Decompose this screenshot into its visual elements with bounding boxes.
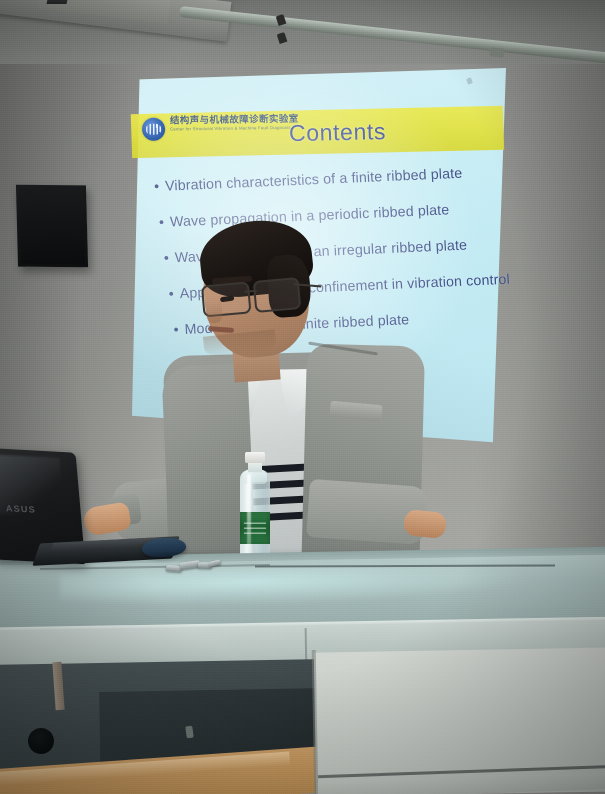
wall-speaker <box>16 185 88 268</box>
presenter-nose <box>205 300 223 324</box>
presenter-eye <box>220 295 235 302</box>
speaker-bracket <box>47 0 70 4</box>
bottle-cap <box>245 452 265 463</box>
list-item: •Vibration characteristics of a finite r… <box>154 164 501 195</box>
wall-fixture <box>185 726 194 739</box>
bullet-text: Vibration characteristics of a finite ri… <box>165 166 463 195</box>
photo-scene: 结构声与机械故障诊断实验室 Center for Structural Vibr… <box>0 0 605 794</box>
presenter <box>108 215 468 575</box>
cable-hole <box>28 728 54 754</box>
jacket-right-panel <box>301 343 425 584</box>
ceiling-pipe-joint <box>490 47 505 57</box>
presenter-right-hand <box>403 509 447 539</box>
speaker-face <box>19 188 85 265</box>
laptop-brand-logo: ASUS <box>5 503 36 515</box>
institute-logo-icon <box>142 118 166 141</box>
bullet-marker: • <box>154 179 166 195</box>
bottle-label <box>240 512 270 544</box>
bottle-neck <box>248 463 262 472</box>
key-item <box>208 559 221 567</box>
presenter-mouth <box>208 326 234 333</box>
slide-title: Contents <box>237 117 438 148</box>
